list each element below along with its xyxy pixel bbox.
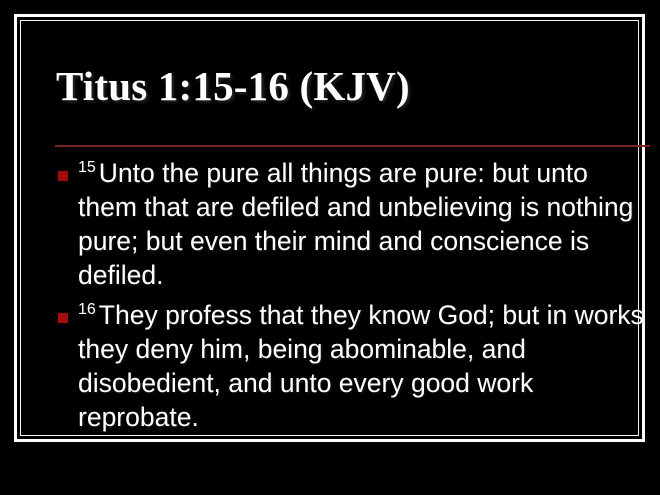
title-divider [55,145,650,147]
page-title: Titus 1:15-16 (KJV) [56,62,616,110]
square-bullet-icon [58,313,68,323]
square-bullet-icon [58,171,68,181]
verse-list: 15Unto the pure all things are pure: but… [36,156,646,440]
presentation-slide: Titus 1:15-16 (KJV) 15Unto the pure all … [0,0,660,495]
verse-text: They profess that they know God; but in … [78,300,644,432]
verse-text: Unto the pure all things are pure: but u… [78,158,633,290]
list-item: 16They profess that they know God; but i… [36,298,646,434]
verse-number: 16 [78,301,96,318]
verse-number: 15 [78,159,96,176]
slide-content: Titus 1:15-16 (KJV) 15Unto the pure all … [22,22,637,434]
list-item: 15Unto the pure all things are pure: but… [36,156,646,292]
